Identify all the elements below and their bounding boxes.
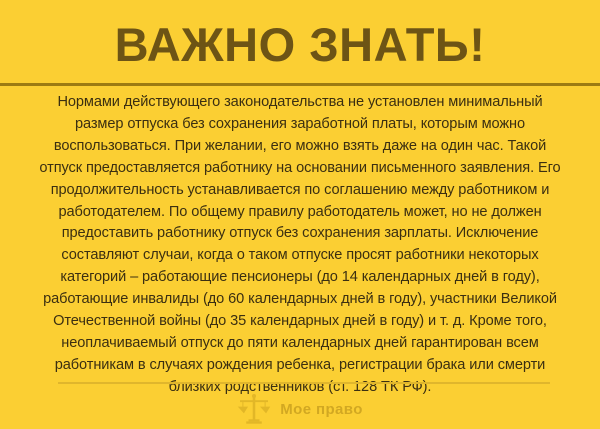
- body-line: работодателем. По общему правилу работод…: [30, 202, 570, 224]
- body-line: категорий – работающие пенсионеры (до 14…: [30, 267, 570, 289]
- poster-body-text: Нормами действующего законодательства не…: [30, 92, 570, 377]
- page-title: ВАЖНО ЗНАТЬ!: [115, 20, 486, 70]
- body-line: Отечественной войны (до 35 календарных д…: [30, 311, 570, 333]
- body-line: неоплачиваемый отпуск до пяти календарны…: [30, 333, 570, 355]
- body-line: продолжительность устанавливается по сог…: [30, 180, 570, 202]
- divider-bottom: [58, 382, 550, 384]
- body-line: работникам в случаях рождения ребенка, р…: [30, 355, 570, 377]
- poster-canvas: ВАЖНО ЗНАТЬ! Нормами действующего законо…: [0, 0, 600, 429]
- body-line: отпуск предоставляется работнику на осно…: [30, 158, 570, 180]
- body-line: воспользоваться. При желании, его можно …: [30, 136, 570, 158]
- body-line: Нормами действующего законодательства не…: [30, 92, 570, 114]
- brand-name: Мое право: [280, 401, 363, 418]
- poster-title-area: ВАЖНО ЗНАТЬ!: [0, 14, 600, 76]
- footer-watermark: Мое право: [0, 389, 600, 429]
- body-line: размер отпуска без сохранения заработной…: [30, 114, 570, 136]
- body-line: составляют случаи, когда о таком отпуске…: [30, 245, 570, 267]
- body-line: работающие инвалиды (до 60 календарных д…: [30, 289, 570, 311]
- body-line: предоставить работнику отпуск без сохран…: [30, 223, 570, 245]
- divider-top: [0, 83, 600, 86]
- scales-of-justice-icon: [237, 393, 271, 425]
